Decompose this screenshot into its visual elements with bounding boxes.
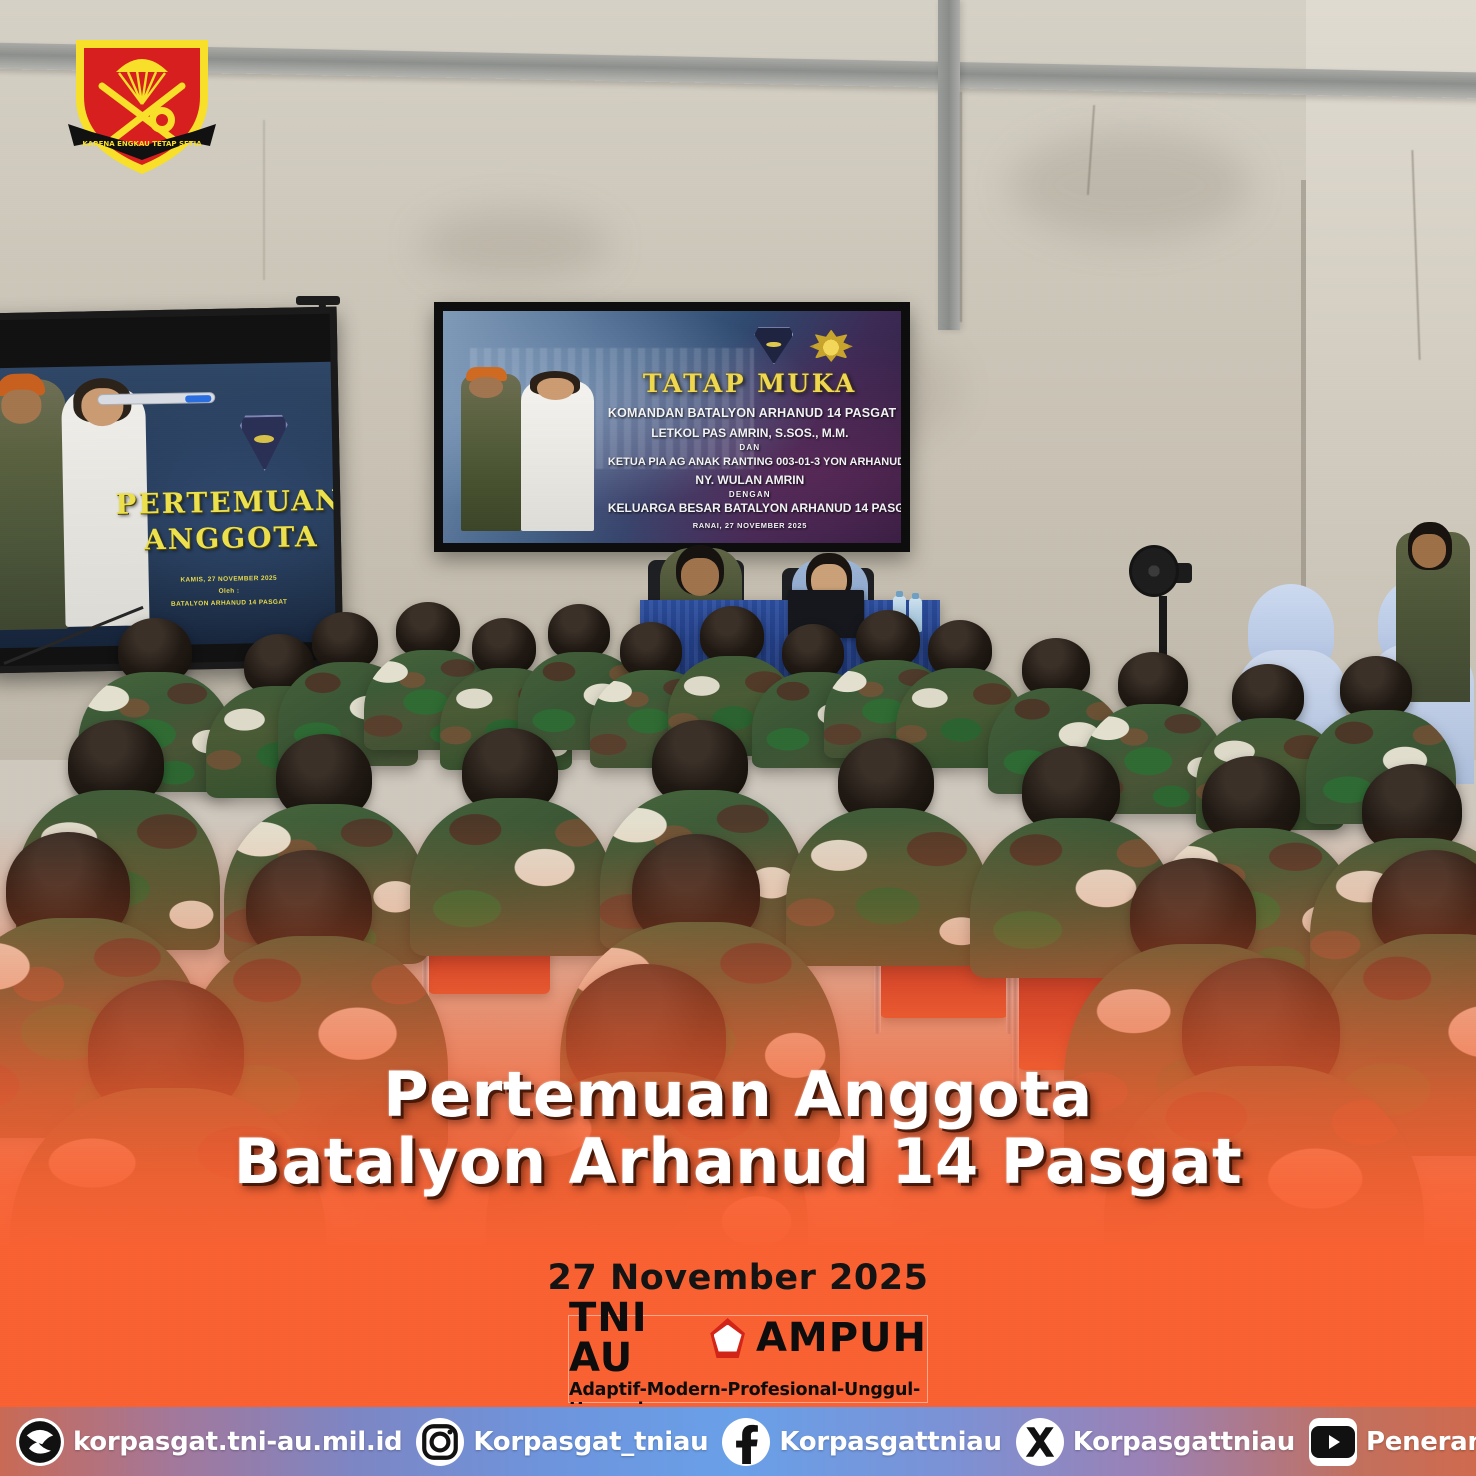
facebook-icon[interactable] (722, 1418, 770, 1466)
banner-line-1: KOMANDAN BATALYON ARHANUD 14 PASGAT (608, 406, 892, 420)
banner-line-6: DENGAN (608, 490, 892, 499)
banner-line-2: LETKOL PAS AMRIN, S.SOS., M.M. (608, 426, 892, 440)
crowd-shadow (300, 1080, 580, 1230)
wall-crack (263, 120, 265, 280)
banner-line-4: KETUA PIA AG ANAK RANTING 003-01-3 YON A… (608, 456, 892, 468)
wall-stain (1010, 130, 1250, 240)
banner-lady-figure (521, 381, 594, 532)
ampuh-text-right: AMPUH (756, 1318, 927, 1358)
banner-shield-icon (754, 327, 793, 364)
banner-commander-face (469, 377, 503, 398)
footer-item-instagram[interactable]: Korpasgat_tniau (416, 1418, 708, 1466)
banner-line-7: KELUARGA BESAR BATALYON ARHANUD 14 PASGA… (608, 501, 892, 515)
x-twitter-icon[interactable] (1016, 1418, 1064, 1466)
attendee-body (410, 798, 614, 956)
poster-root: PERTEMUAN ANGGOTA KAMIS, 27 NOVEMBER 202… (0, 0, 1476, 1476)
pentagon-icon (710, 1318, 745, 1358)
slide-title-line-1: PERTEMUAN (115, 484, 340, 521)
emblem-motto-text: KARENA ENGKAU TETAP SETIA (82, 140, 202, 148)
attendee-body (786, 808, 990, 966)
audience-crowd (0, 560, 1476, 1340)
korpaskhas-emblem: KARENA ENGKAU TETAP SETIA (62, 28, 222, 178)
screen-support-bracket (296, 296, 340, 305)
banner-lady-face (537, 378, 574, 400)
instagram-icon[interactable] (416, 1418, 464, 1466)
slide-browser-bar (97, 392, 215, 405)
banner-garuda-icon (809, 330, 853, 362)
wall-stain (420, 210, 610, 280)
ampuh-text-left: TNI AU (569, 1298, 699, 1378)
event-photograph: PERTEMUAN ANGGOTA KAMIS, 27 NOVEMBER 202… (0, 0, 1476, 1476)
footer-label-instagram[interactable]: Korpasgat_tniau (473, 1427, 708, 1457)
footer-label-x[interactable]: Korpasgattniau (1073, 1427, 1295, 1457)
footer-item-youtube[interactable]: Penerangan Korpasgat (1309, 1418, 1476, 1466)
banner-line-3: DAN (608, 443, 892, 452)
slide-title-line-2: ANGGOTA (144, 520, 319, 556)
social-footer-bar: korpasgat.tni-au.mil.id Korpasgat_tniau … (0, 1404, 1476, 1476)
youtube-icon[interactable] (1309, 1418, 1357, 1466)
wall-banner-artwork: TATAP MUKA KOMANDAN BATALYON ARHANUD 14 … (443, 311, 901, 543)
tni-au-ampuh-lockup: TNI AU AMPUH Adaptif-Modern-Profesional-… (568, 1315, 928, 1403)
event-date: 27 November 2025 (0, 1258, 1476, 1298)
footer-item-website[interactable]: korpasgat.tni-au.mil.id (16, 1418, 402, 1466)
banner-headline: TATAP MUKA (608, 369, 892, 398)
wall-beam-vertical (938, 0, 960, 330)
wall-crack (960, 92, 962, 322)
footer-label-facebook[interactable]: Korpasgattniau (779, 1427, 1001, 1457)
wall-banner: TATAP MUKA KOMANDAN BATALYON ARHANUD 14 … (434, 302, 910, 552)
banner-line-8: RANAI, 27 NOVEMBER 2025 (608, 521, 892, 530)
footer-item-x[interactable]: Korpasgattniau (1016, 1418, 1295, 1466)
banner-line-5: NY. WULAN AMRIN (608, 473, 892, 487)
slide-unit-shield-icon (240, 415, 289, 472)
ampuh-row: TNI AU AMPUH (569, 1298, 927, 1378)
footer-label-youtube[interactable]: Penerangan Korpasgat (1366, 1427, 1476, 1457)
globe-icon[interactable] (16, 1418, 64, 1466)
slide-officer-face (1, 389, 42, 424)
footer-item-facebook[interactable]: Korpasgattniau (722, 1418, 1001, 1466)
footer-label-website[interactable]: korpasgat.tni-au.mil.id (73, 1427, 402, 1457)
crowd-shadow (880, 1100, 1180, 1260)
